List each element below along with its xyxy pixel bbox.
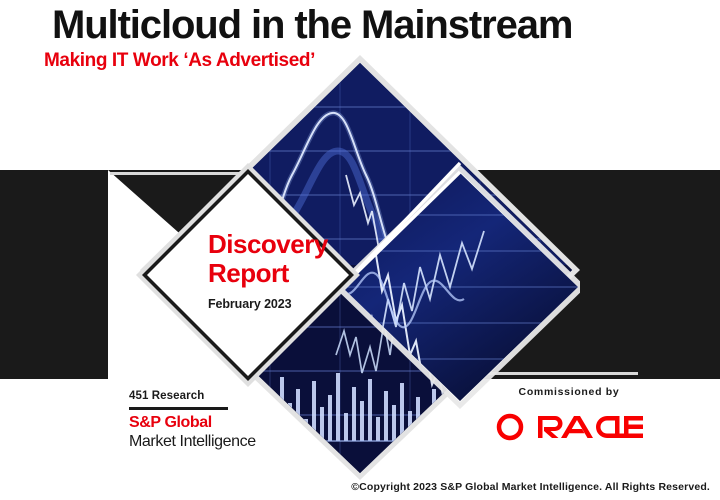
- page-title: Multicloud in the Mainstream: [52, 4, 572, 46]
- research-brand-label: 451 Research: [129, 390, 256, 402]
- logo-divider: [129, 407, 228, 410]
- sp-global-logo: 451 Research S&P Global Market Intellige…: [129, 390, 256, 451]
- report-type-line2: Report: [208, 259, 328, 288]
- page-subtitle: Making IT Work ‘As Advertised’: [44, 50, 315, 71]
- center-diamond-text: Discovery Report February 2023: [208, 230, 328, 311]
- sp-global-wordmark: S&P Global: [129, 414, 256, 432]
- report-cover: Multicloud in the Mainstream Making IT W…: [0, 0, 720, 500]
- oracle-wordmark-icon: [495, 412, 643, 442]
- report-type-line1: Discovery: [208, 230, 328, 259]
- copyright-notice: ©Copyright 2023 S&P Global Market Intell…: [351, 481, 710, 493]
- commissioned-by-label: Commissioned by: [495, 386, 643, 398]
- market-intelligence-label: Market Intelligence: [129, 432, 256, 451]
- report-date: February 2023: [208, 297, 328, 311]
- oracle-logo: [495, 412, 643, 447]
- sponsor-block: Commissioned by: [495, 386, 643, 447]
